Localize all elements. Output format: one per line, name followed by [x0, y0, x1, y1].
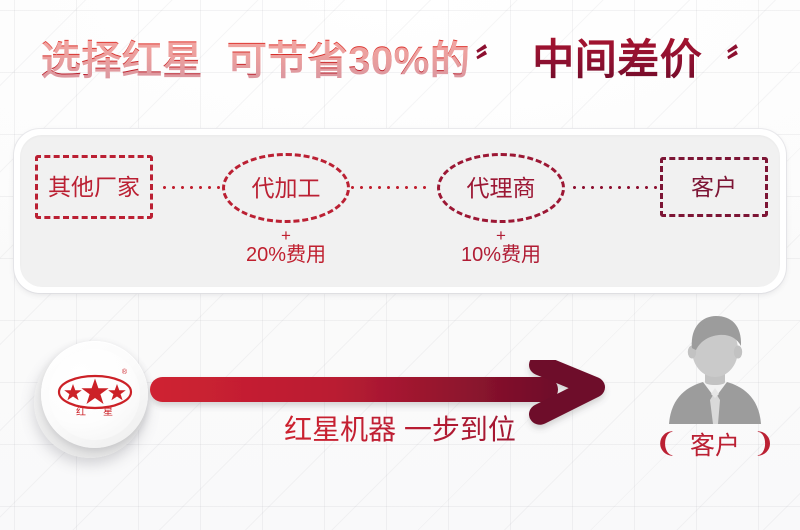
- logo-face: ® 红星: [49, 349, 140, 440]
- flow-node-label: 代理商: [467, 177, 536, 200]
- flow-fee-amount: 20%费用: [216, 243, 356, 267]
- flow-fee-amount: 10%费用: [431, 243, 571, 267]
- flow-fee-oem: + 20%费用: [216, 228, 356, 267]
- flow-connector-1: [160, 186, 222, 189]
- flow-fee-plus: +: [431, 228, 571, 243]
- flow-node-agent[interactable]: 代理商: [437, 153, 565, 223]
- quote-close-icon: 〞: [726, 35, 759, 84]
- flow-connector-3: [570, 186, 660, 189]
- headline-emphasis: 中间差价: [532, 36, 702, 83]
- bracket-right-icon: ❩: [752, 428, 775, 458]
- poster-canvas: 选择红星 可节省30%的 〞 中间差价 〞 其他厂家 代加工 + 20%费用 代…: [0, 0, 800, 530]
- registered-mark-icon: ®: [122, 369, 127, 376]
- flow-fee-agent: + 10%费用: [431, 228, 571, 267]
- headline-part1: 选择红星: [41, 39, 203, 83]
- tagline: 红星机器 一步到位: [200, 408, 600, 448]
- logo-wordmark: 红星: [49, 403, 140, 418]
- flow-node-customer[interactable]: 客户: [660, 157, 768, 217]
- quote-open-icon: 〞: [475, 35, 508, 84]
- page-title: 选择红星 可节省30%的 〞 中间差价 〞: [0, 26, 800, 87]
- customer-label-group: ❨ 客户 ❩: [640, 426, 790, 462]
- customer-label: 客户: [690, 432, 740, 460]
- flow-node-oem-processing[interactable]: 代加工: [222, 153, 350, 223]
- customer-avatar-icon: [663, 312, 767, 424]
- brand-logo[interactable]: ® 红星: [30, 338, 152, 460]
- flow-node-label: 客户: [691, 176, 737, 199]
- flow-connector-2: [348, 186, 430, 189]
- flow-node-label: 代加工: [252, 177, 321, 200]
- flow-node-label: 其他厂家: [48, 176, 140, 199]
- flow-fee-plus: +: [216, 228, 356, 243]
- headline-part2: 可节省30%的: [227, 39, 471, 83]
- bracket-left-icon: ❨: [655, 428, 678, 458]
- flow-node-other-manufacturer[interactable]: 其他厂家: [35, 155, 153, 219]
